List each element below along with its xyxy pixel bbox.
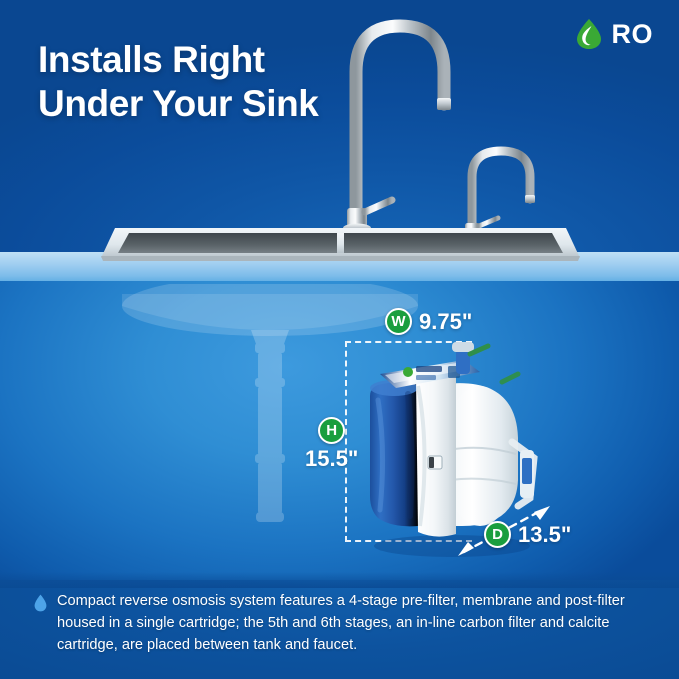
headline-line-2: Under Your Sink	[38, 82, 458, 126]
brand-logo: RO	[575, 18, 654, 50]
height-value: 15.5"	[305, 448, 358, 470]
dimension-height: H 15.5"	[305, 417, 358, 470]
headline-line-1: Installs Right	[38, 38, 458, 82]
width-badge: W	[385, 308, 412, 335]
caption-block: Compact reverse osmosis system features …	[34, 590, 646, 657]
infographic-canvas: W 9.75" H 15.5" D 13.5" Installs Right U…	[0, 0, 679, 679]
logo-text: RO	[612, 21, 654, 48]
headline: Installs Right Under Your Sink	[38, 38, 458, 125]
height-badge: H	[318, 417, 345, 444]
water-drop-bullet-icon	[34, 594, 47, 612]
depth-badge: D	[484, 521, 511, 548]
drain-pipe-icon	[251, 330, 289, 522]
caption-text: Compact reverse osmosis system features …	[57, 590, 646, 657]
double-basin-sink	[0, 222, 679, 288]
dimension-depth: D 13.5"	[484, 521, 571, 548]
depth-value: 13.5"	[518, 524, 571, 546]
dimension-width: W 9.75"	[385, 308, 472, 335]
water-drop-leaf-icon	[575, 18, 603, 50]
width-value: 9.75"	[419, 311, 472, 333]
